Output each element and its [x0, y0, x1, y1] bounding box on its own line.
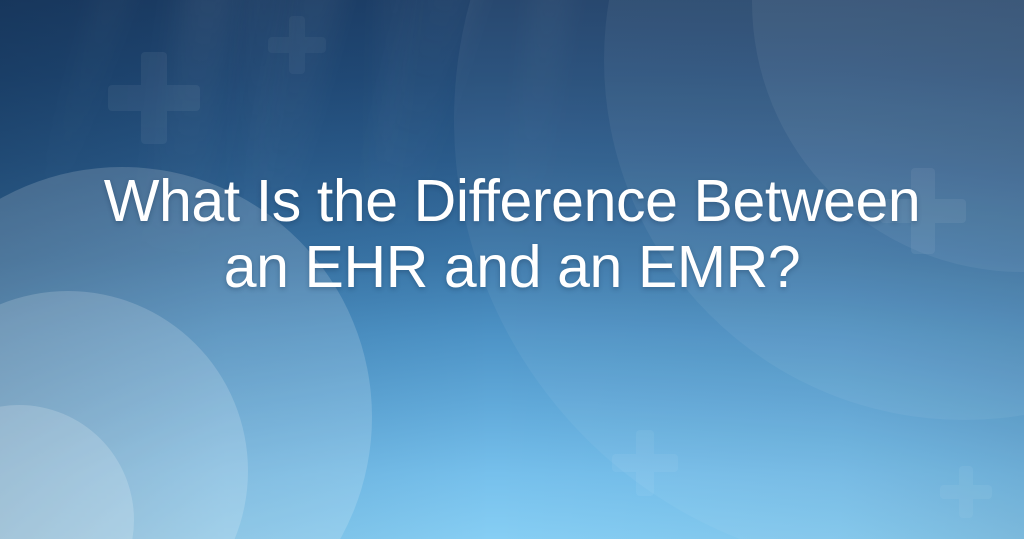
hero-banner: What Is the Difference Between an EHR an…: [0, 0, 1024, 539]
headline-container: What Is the Difference Between an EHR an…: [0, 168, 1024, 300]
page-title: What Is the Difference Between an EHR an…: [88, 168, 936, 300]
